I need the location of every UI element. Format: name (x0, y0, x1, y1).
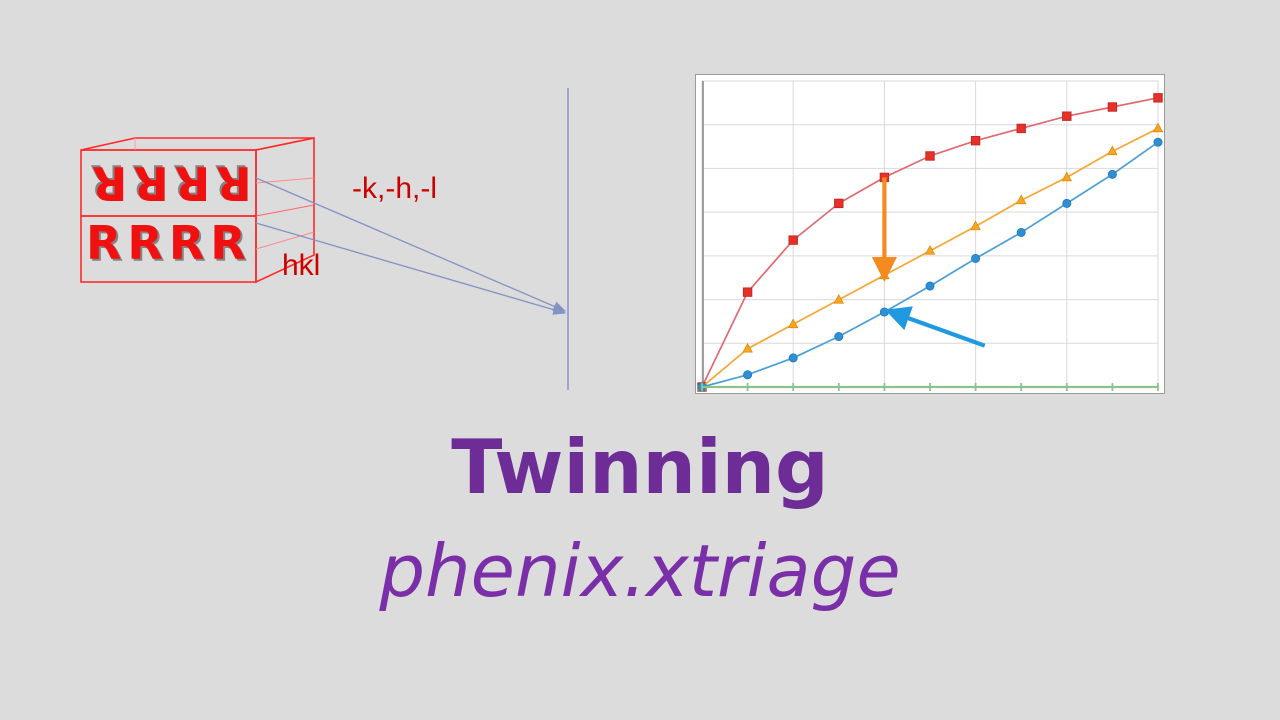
page-title: Twinning (0, 430, 1280, 505)
data-point-marker (835, 332, 843, 340)
chart-vector-layer (696, 75, 1164, 393)
data-point-marker (1017, 124, 1025, 132)
data-point-marker (926, 152, 934, 160)
data-point-marker (1063, 112, 1071, 120)
box-right-domain-split (256, 205, 314, 216)
page-subtitle: phenix.xtriage (0, 535, 1280, 607)
data-point-marker (743, 288, 751, 296)
data-point-marker (880, 308, 888, 316)
annotation-blue-left-arrow (891, 312, 984, 346)
data-point-marker (835, 199, 843, 207)
data-point-marker (972, 254, 980, 262)
diagram-vector-layer (0, 0, 620, 420)
data-point-marker (971, 136, 979, 144)
data-point-marker (1154, 138, 1162, 146)
data-point-marker (971, 221, 980, 229)
series-line (702, 128, 1158, 387)
box-right-edge-mid-lower (256, 232, 314, 249)
data-point-marker (1017, 228, 1025, 236)
twin-domain-letters-rotated: RRRR (86, 160, 252, 206)
data-point-marker (789, 236, 797, 244)
data-point-marker (744, 371, 752, 379)
data-point-marker (789, 354, 797, 362)
chart-series-baseline (702, 383, 1158, 391)
cumulative-intensity-chart (695, 74, 1165, 394)
series-line (702, 142, 1158, 387)
data-point-marker (1062, 172, 1071, 180)
chart-series-perfect-twin (698, 94, 1162, 392)
data-point-marker (926, 282, 934, 290)
data-point-marker (1154, 94, 1162, 102)
chart-gridlines (702, 81, 1158, 387)
data-point-marker (1063, 199, 1071, 207)
chart-series-partial-twin (697, 123, 1162, 390)
data-point-marker (1108, 170, 1116, 178)
label-twin-operator: -k,-h,-l (352, 172, 437, 206)
twin-domain-diagram: RRRR RRRR -k,-h,-l hkl (0, 0, 620, 420)
twin-domain-letters-upright: RRRR (86, 220, 252, 266)
slide-canvas: RRRR RRRR -k,-h,-l hkl Twinning phenix.x… (0, 0, 1280, 720)
data-point-marker (1108, 103, 1116, 111)
chart-series-untwinned (698, 138, 1162, 391)
box-top-face (81, 138, 314, 150)
label-original-index: hkl (282, 249, 320, 283)
